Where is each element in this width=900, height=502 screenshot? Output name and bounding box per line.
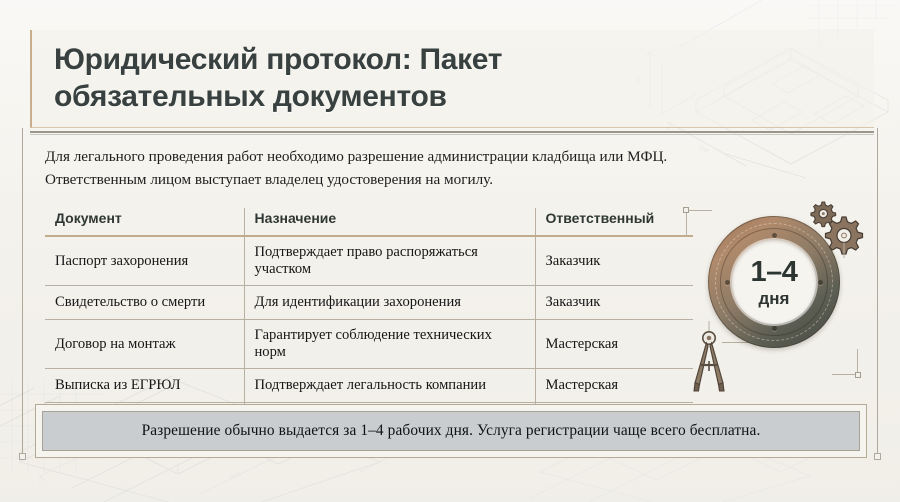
duration-badge-zone: 1–4 дня — [682, 196, 872, 401]
cell-purpose: Гарантирует соблюдение технических норм — [244, 320, 535, 369]
cell-responsible: Заказчик — [535, 236, 693, 286]
corner-bracket-top-left — [686, 210, 712, 236]
svg-text:2400: 2400 — [64, 451, 78, 462]
header-panel: Юридический протокол: Пакет обязательных… — [30, 30, 874, 128]
cell-responsible: Заказчик — [535, 286, 693, 320]
table-row: Свидетельство о смерти Для идентификации… — [45, 286, 693, 320]
page-title: Юридический протокол: Пакет обязательных… — [54, 42, 594, 115]
cell-responsible: Мастерская — [535, 320, 693, 369]
cell-document: Паспорт захоронения — [45, 236, 244, 286]
cell-purpose: Подтверждает легальность компании — [244, 369, 535, 403]
column-header-document: Документ — [45, 208, 244, 236]
footer-callout: Разрешение обычно выдается за 1–4 рабочи… — [42, 411, 860, 451]
cell-document: Договор на монтаж — [45, 320, 244, 369]
table-row: Паспорт захоронения Подтверждает право р… — [45, 236, 693, 286]
cell-document: Свидетельство о смерти — [45, 286, 244, 320]
intro-line-2: Ответственным лицом выступает владелец у… — [45, 169, 745, 191]
badge-number: 1–4 — [751, 258, 798, 287]
slide-root: 1200 800 2400 1800 — [0, 0, 900, 502]
table-header-row: Документ Назначение Ответственный — [45, 208, 693, 236]
table-row: Выписка из ЕГРЮЛ Подтверждает легальност… — [45, 369, 693, 403]
badge-rivet-top — [772, 233, 777, 238]
table-row: Договор на монтаж Гарантирует соблюдение… — [45, 320, 693, 369]
corner-marker-top-left — [683, 207, 689, 213]
documents-table: Документ Назначение Ответственный Паспор… — [45, 208, 693, 438]
badge-rivet-right — [818, 280, 823, 285]
corner-marker-bottom-right — [855, 372, 861, 378]
gear-icon — [806, 196, 868, 258]
compass-icon — [682, 321, 738, 397]
cell-purpose: Подтверждает право распоряжаться участко… — [244, 236, 535, 286]
cell-responsible: Мастерская — [535, 369, 693, 403]
frame-left-line — [22, 128, 23, 458]
badge-unit: дня — [759, 290, 790, 307]
cell-document: Выписка из ЕГРЮЛ — [45, 369, 244, 403]
badge-face: 1–4 дня — [732, 240, 816, 324]
intro-line-1: Для легального проведения работ необходи… — [45, 146, 745, 168]
column-header-purpose: Назначение — [244, 208, 535, 236]
footer-callout-text: Разрешение обычно выдается за 1–4 рабочи… — [142, 422, 761, 440]
frame-tick-bottom-right — [874, 453, 881, 460]
header-divider — [30, 131, 874, 133]
svg-text:1800: 1800 — [228, 471, 242, 482]
column-header-responsible: Ответственный — [535, 208, 693, 236]
intro-paragraph: Для легального проведения работ необходи… — [45, 146, 745, 190]
badge-rivet-left — [725, 280, 730, 285]
cell-purpose: Для идентификации захоронения — [244, 286, 535, 320]
frame-tick-bottom-left — [19, 453, 26, 460]
frame-right-line — [877, 128, 878, 458]
badge-rivet-bottom — [772, 326, 777, 331]
